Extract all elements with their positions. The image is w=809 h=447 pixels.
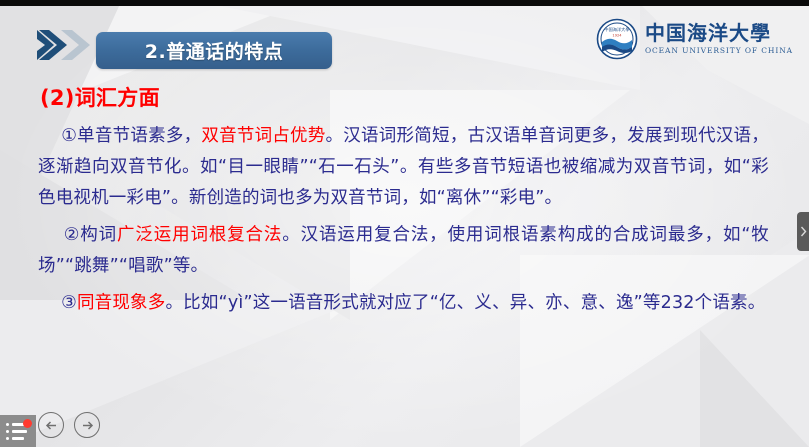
slide-title-text: 2.普通话的特点 <box>145 37 283 64</box>
chevron-right-light-icon <box>61 30 97 64</box>
next-slide-button[interactable] <box>74 412 100 438</box>
right-edge-panel-toggle[interactable] <box>797 212 809 251</box>
window-top-frame <box>0 0 809 6</box>
list-menu-row-3 <box>6 437 36 440</box>
university-logo: 中国海洋大學 1924 中国海洋大學 OCEAN UNIVERSITY OF C… <box>596 16 793 62</box>
paragraph-list: ①单音节语素多，双音节词占优势。汉语词形简短，古汉语单音词更多，发展到现代汉语，… <box>0 121 809 319</box>
menu-line-3 <box>12 437 24 440</box>
menu-bullet-3 <box>6 437 9 440</box>
menu-panel[interactable] <box>0 415 36 447</box>
chevron-arrows-decoration <box>37 30 95 60</box>
para-2-seg-2: 广泛运用词根复合法 <box>117 225 282 245</box>
slide-title-banner: 2.普通话的特点 <box>96 32 332 69</box>
para-3-seg-3: 。比如“yì”这一语音形式就对应了“亿、义、异、亦、意、逸”等232个语素。 <box>165 293 765 313</box>
slide-content: (2)词汇方面 ①单音节语素多，双音节词占优势。汉语词形简短，古汉语单音词更多，… <box>0 82 809 325</box>
menu-bullet-2 <box>6 430 9 433</box>
section-heading: (2)词汇方面 <box>40 82 809 112</box>
para-3-seg-1: ③ <box>38 293 77 313</box>
para-1-seg-1: ①单音节语素多， <box>38 126 201 146</box>
slide-navigation <box>38 412 100 438</box>
para-3: ③同音现象多。比如“yì”这一语音形式就对应了“亿、义、异、亦、意、逸”等232… <box>38 288 769 319</box>
para-2-seg-1: ②构词 <box>38 225 117 245</box>
para-1-seg-2: 双音节词占优势 <box>201 126 325 146</box>
menu-bullet-1 <box>6 423 9 426</box>
para-1: ①单音节语素多，双音节词占优势。汉语词形简短，古汉语单音词更多，发展到现代汉语，… <box>38 121 769 214</box>
slide-header: 2.普通话的特点 中国海洋大學 1924 中国海洋大學 OCEAN UNIVER… <box>0 6 809 72</box>
svg-text:1924: 1924 <box>612 34 622 38</box>
arrow-right-circle-icon <box>80 418 95 433</box>
svg-text:中国海洋大學: 中国海洋大學 <box>604 26 629 33</box>
menu-line-2 <box>12 430 27 433</box>
para-2: ②构词广泛运用词根复合法。汉语运用复合法，使用词根语素构成的合成词最多，如“牧场… <box>38 220 769 282</box>
university-seal-icon: 中国海洋大學 1924 <box>596 18 638 60</box>
presentation-slide: 2.普通话的特点 中国海洋大學 1924 中国海洋大學 OCEAN UNIVER… <box>0 0 809 447</box>
chevron-right-icon <box>800 226 807 237</box>
prev-slide-button[interactable] <box>38 412 64 438</box>
list-menu-row-2 <box>6 430 36 433</box>
logo-chinese-name: 中国海洋大學 <box>645 23 793 44</box>
arrow-left-circle-icon <box>44 418 59 433</box>
logo-english-name: OCEAN UNIVERSITY OF CHINA <box>645 46 793 55</box>
para-3-seg-2: 同音现象多 <box>77 293 166 313</box>
notification-badge <box>23 419 32 428</box>
